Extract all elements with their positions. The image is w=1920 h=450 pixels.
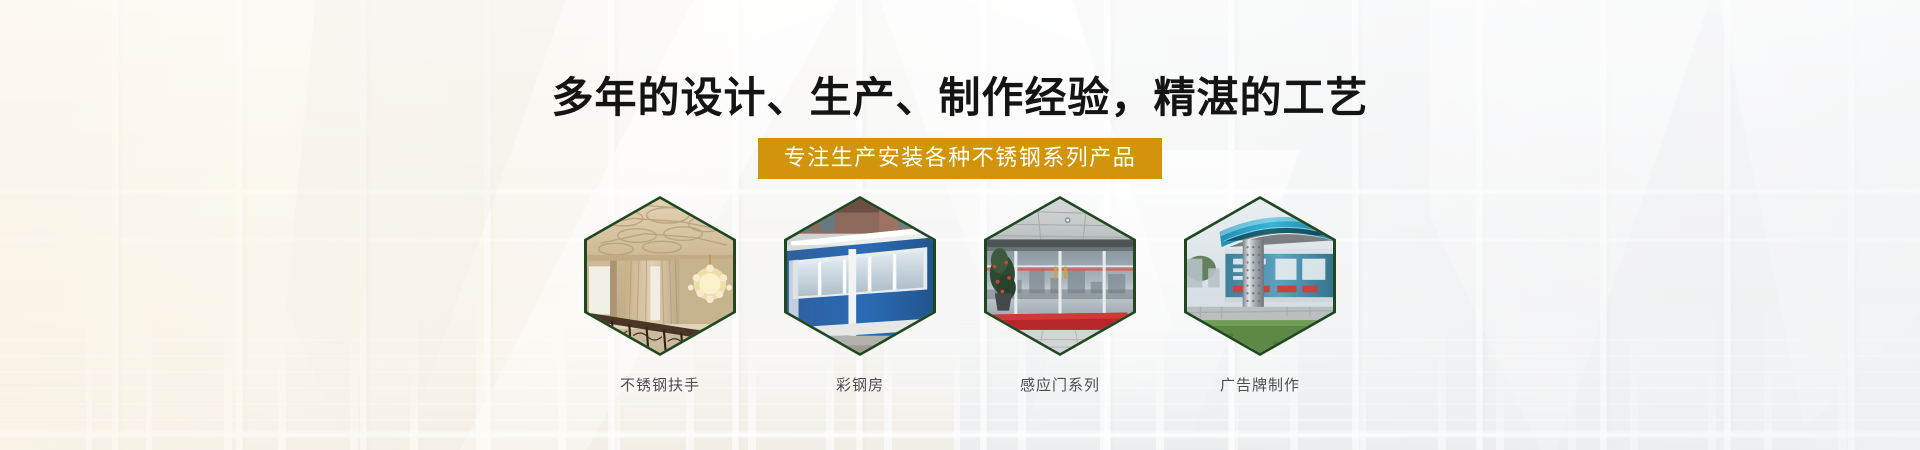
color-steel-cabin-photo [787, 199, 933, 353]
product-item-billboard[interactable]: 广告牌制作 [1184, 196, 1336, 395]
stainless-steel-handrail-photo [587, 199, 733, 353]
hexagon-frame[interactable] [1184, 196, 1336, 356]
product-item-sensor-door[interactable]: 感应门系列 [984, 196, 1136, 395]
product-hexagon-row: 不锈钢扶手 [0, 196, 1920, 395]
billboard-fabrication-photo [1187, 199, 1333, 353]
product-label: 不锈钢扶手 [584, 374, 736, 395]
banner-subtitle-badge: 专注生产安装各种不锈钢系列产品 [758, 138, 1163, 179]
banner-subtitle-container: 专注生产安装各种不锈钢系列产品 [0, 138, 1920, 179]
hexagon-frame[interactable] [584, 196, 736, 356]
product-item-handrail[interactable]: 不锈钢扶手 [584, 196, 736, 395]
product-label: 广告牌制作 [1184, 374, 1336, 395]
product-label: 彩钢房 [784, 374, 936, 395]
automatic-sensor-door-photo [987, 199, 1133, 353]
banner-headline: 多年的设计、生产、制作经验，精湛的工艺 [0, 74, 1920, 122]
product-label: 感应门系列 [984, 374, 1136, 395]
promotional-banner: 多年的设计、生产、制作经验，精湛的工艺 专注生产安装各种不锈钢系列产品 [0, 0, 1920, 450]
hexagon-frame[interactable] [984, 196, 1136, 356]
product-item-color-steel-cabin[interactable]: 彩钢房 [784, 196, 936, 395]
hexagon-frame[interactable] [784, 196, 936, 356]
